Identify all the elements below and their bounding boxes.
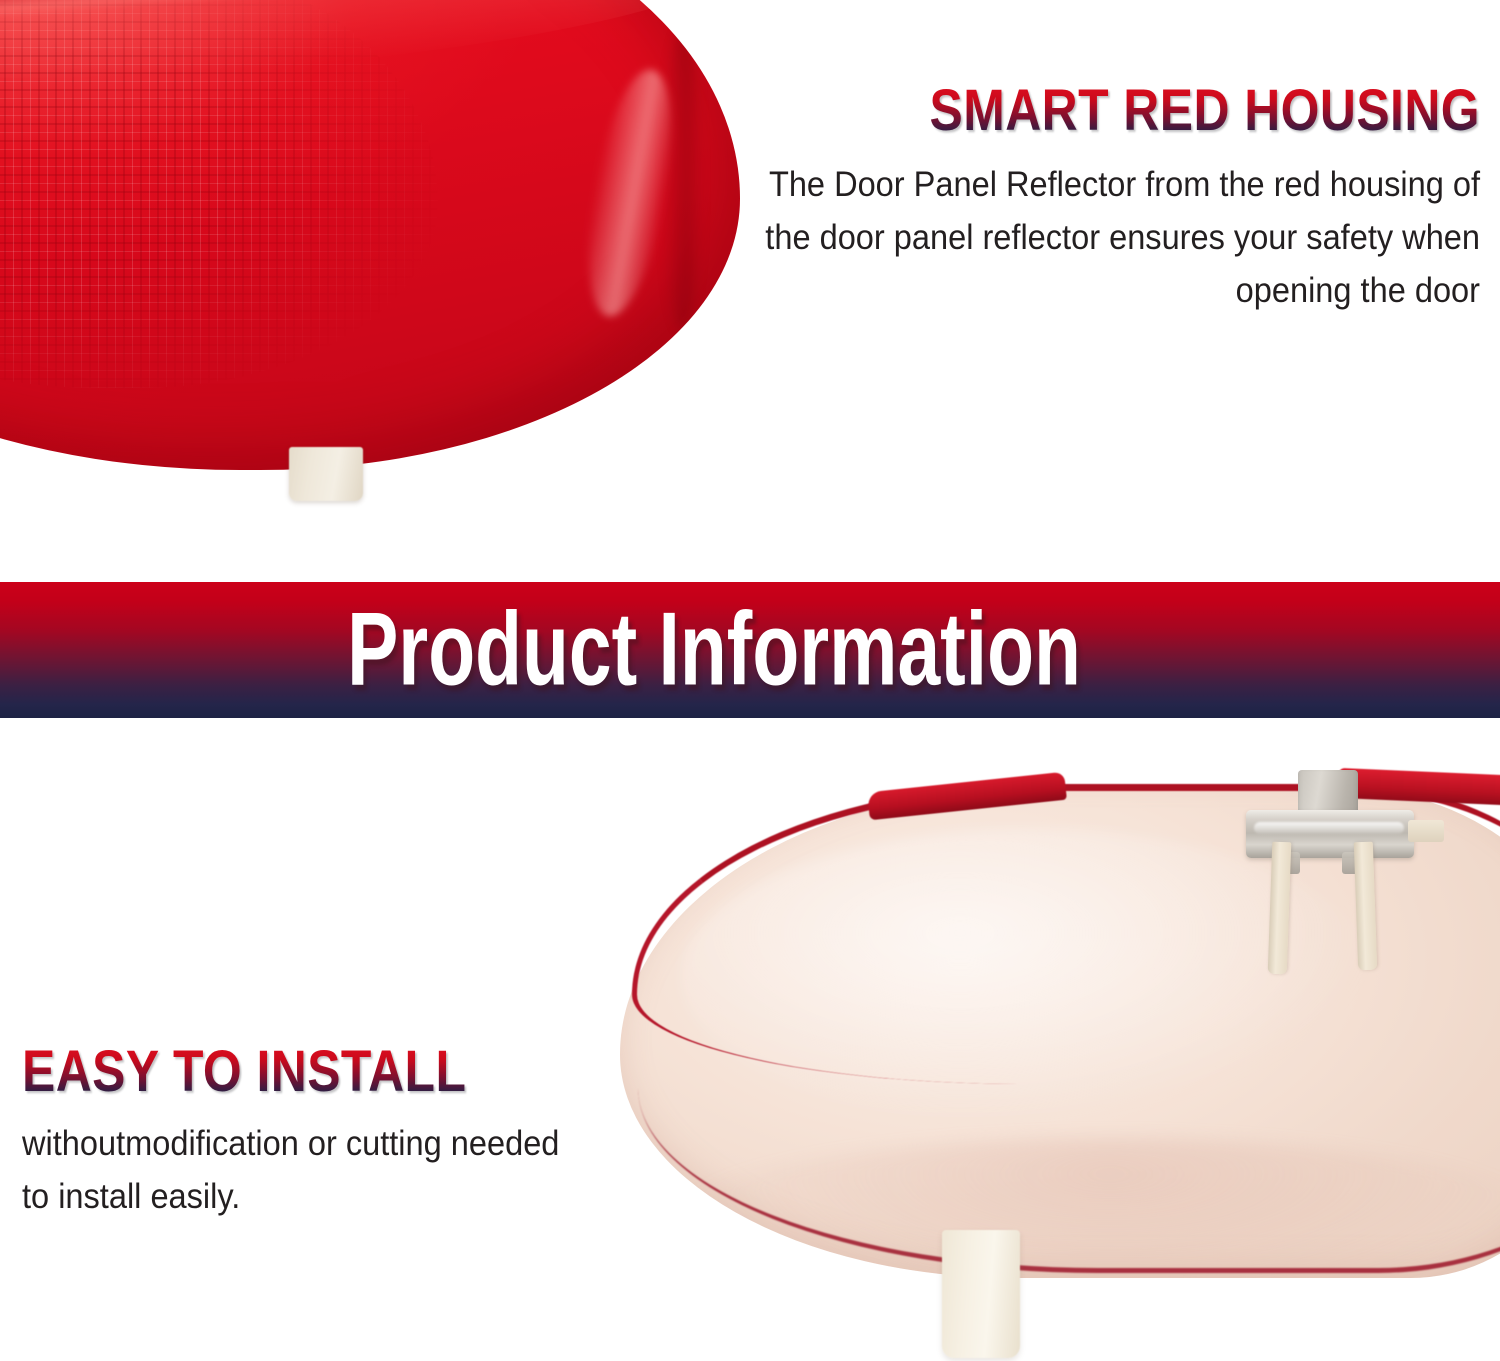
bottom-feature-section: EASY TO INSTALL withoutmodification or c… [0, 718, 1500, 1361]
clip-bar-highlight [1254, 822, 1404, 834]
reflector-lens-body [0, 0, 740, 470]
mounting-tab-bottom [942, 1230, 1020, 1358]
banner-title: Product Information [150, 582, 1350, 718]
bottom-headline: EASY TO INSTALL [22, 1043, 538, 1101]
product-infographic-page: SMART RED HOUSING The Door Panel Reflect… [0, 0, 1500, 1361]
bottom-text-block: EASY TO INSTALL withoutmodification or c… [22, 1043, 622, 1223]
plastic-prong-left [1268, 842, 1292, 975]
product-information-banner: Product Information [0, 582, 1500, 718]
metal-retaining-clip [1230, 768, 1440, 988]
top-headline: SMART RED HOUSING [775, 82, 1480, 140]
top-feature-section: SMART RED HOUSING The Door Panel Reflect… [0, 0, 1500, 582]
top-body-text: The Door Panel Reflector from the red ho… [717, 158, 1480, 318]
plastic-prong-side [1408, 820, 1444, 842]
mounting-tab [289, 447, 363, 501]
reflector-front-photo [0, 0, 740, 480]
bottom-body-text: withoutmodification or cutting needed to… [22, 1117, 580, 1223]
top-text-block: SMART RED HOUSING The Door Panel Reflect… [660, 82, 1480, 318]
plastic-prong-right [1354, 842, 1377, 971]
reflector-back-photo [620, 768, 1500, 1361]
